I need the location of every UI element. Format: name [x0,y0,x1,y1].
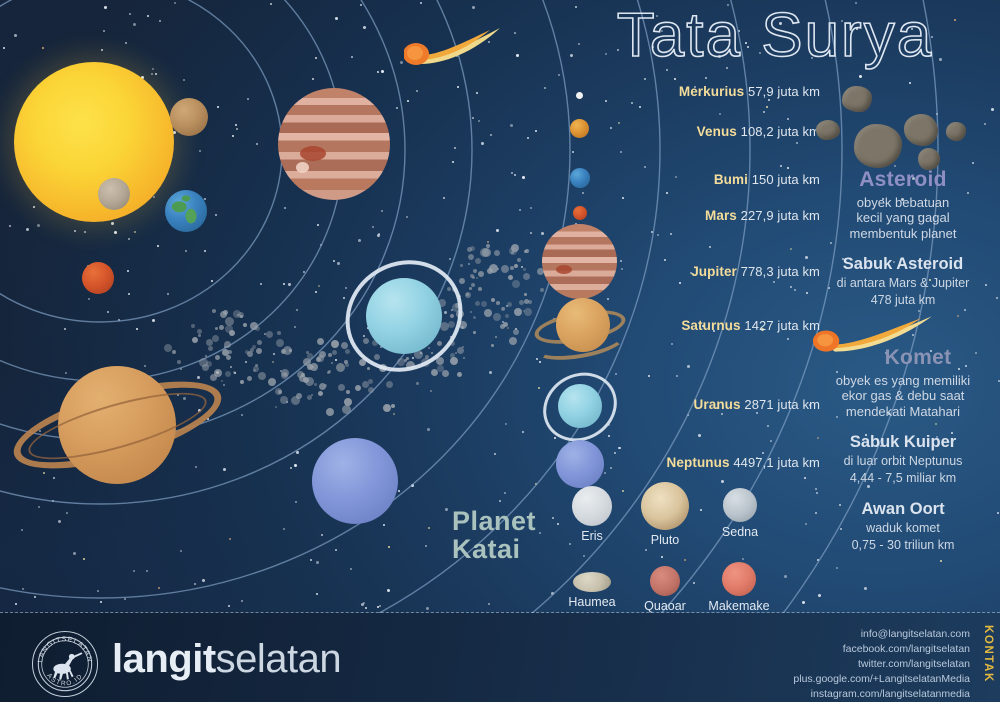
dwarf-item-sedna: Sedna [710,488,770,539]
contact-facebook[interactable]: facebook.com/langitselatan [793,642,970,657]
dwarf-name: Makemake [702,599,776,613]
mercury-icon [576,92,583,99]
comet-icon [812,314,944,354]
haumea-icon [573,572,611,592]
earth-icon [570,168,590,188]
earth-illustration [165,190,207,232]
asteroid-rock [816,120,840,140]
awan-oort-line2: 0,75 - 30 triliun km [806,538,1000,553]
planet-label-uranus: Uranus 2871 juta km [694,397,820,412]
asteroid-rock [854,124,902,168]
logo-mark-icon: LANGITSELATAN ASTRO.ID [33,632,97,696]
sabuk-kuiper-line1: di luar orbit Neptunus [806,454,1000,469]
brand-light: selatan [216,637,341,681]
brand-bold: langit [112,637,216,681]
asteroid-rock [918,148,940,170]
sedna-icon [723,488,757,522]
page-title: Tata Surya [560,2,990,74]
awan-oort-heading: Awan Oort [806,500,1000,519]
asteroid-heading: Asteroid [806,168,1000,192]
contact-google-plus[interactable]: plus.google.com/+LangitselatanMedia [793,672,970,687]
dwarf-item-makemake: Makemake [702,562,776,613]
planet-label-venus: Venus 108,2 juta km [697,124,820,139]
comet-illustration [404,20,514,68]
planet-label-bumi: Bumi 150 juta km [714,172,820,187]
neptune-icon [556,440,604,488]
contact-twitter[interactable]: twitter.com/langitselatan [793,657,970,672]
awan-oort-line1: waduk komet [806,521,1000,536]
sabuk-asteroid-line1: di antara Mars & Jupiter [806,276,1000,291]
asteroid-rock [842,86,872,112]
svg-text:Tata Surya: Tata Surya [617,2,933,70]
comet-art-wrapper [806,308,1000,352]
contact-list: info@langitselatan.com facebook.com/lang… [793,627,970,702]
jupiter-illustration [278,88,390,200]
asteroid-rock [946,122,966,141]
contact-email[interactable]: info@langitselatan.com [793,627,970,642]
dwarf-name: Eris [562,529,622,543]
dwarf-name: Quaoar [633,599,697,613]
dwarf-item-haumea: Haumea [558,563,626,609]
pluto-icon [641,482,689,530]
dwarf-label-line2: Katai [452,536,562,564]
dwarf-item-pluto: Pluto [635,482,695,547]
jupiter-icon [542,224,617,299]
uranus-icon [558,384,602,428]
contact-instagram[interactable]: instagram.com/langitselatanmedia [793,687,970,702]
dwarf-name: Pluto [635,533,695,547]
right-info-column: Asteroid obyek bebatuan kecil yang gagal… [806,92,1000,553]
eris-icon [572,486,612,526]
great-red-spot [300,146,326,161]
planet-label-merkurius: Merkurius 57,9 juta km [679,84,820,99]
planet-label-saturnus: Saturnus 1427 juta km [681,318,820,333]
planet-label-mars: Mars 227,9 juta km [705,208,820,223]
sabuk-kuiper-heading: Sabuk Kuiper [806,433,1000,452]
dwarf-name: Sedna [710,525,770,539]
mercury-illustration [170,98,208,136]
dwarf-planet-label: Planet Katai [452,508,562,563]
dwarf-name: Haumea [558,595,626,609]
komet-description: obyek es yang memiliki ekor gas & debu s… [806,373,1000,419]
svg-text:ASTRO.ID: ASTRO.ID [45,672,84,687]
asteroid-cluster-illustration [806,92,1000,166]
langitselatan-logo: LANGITSELATAN ASTRO.ID [32,631,98,697]
sun-illustration [14,62,174,222]
footer-bar: LANGITSELATAN ASTRO.ID langitsela [0,613,1000,702]
asteroid-description: obyek bebatuan kecil yang gagal membentu… [806,195,1000,241]
jupiter-red-spot [556,265,572,274]
sabuk-asteroid-heading: Sabuk Asteroid [806,255,1000,274]
jupiter-spot [296,162,309,173]
makemake-icon [722,562,756,596]
dwarf-item-quaoar: Quaoar [633,566,697,613]
uranus-illustration [366,278,442,354]
svg-text:LANGITSELATAN: LANGITSELATAN [37,636,93,663]
neptune-illustration [312,438,398,524]
mars-icon [573,206,587,220]
sabuk-kuiper-line2: 4,44 - 7,5 miliar km [806,471,1000,486]
quaoar-icon [650,566,680,596]
moon-illustration [98,178,130,210]
brand-wordmark: langitselatan [112,639,341,679]
dwarf-label-line1: Planet [452,508,562,536]
planet-label-jupiter: Jupiter 778,3 juta km [691,264,820,279]
dwarf-item-eris: Eris [562,486,622,543]
mars-illustration [82,262,114,294]
infographic-page: Merkurius 57,9 juta km Venus 108,2 juta … [0,0,1000,702]
sabuk-asteroid-line2: 478 juta km [806,293,1000,308]
kontak-label: KONTAK [978,625,994,683]
planet-label-neptunus: Neptunus 4497,1 juta km [667,455,820,470]
asteroid-rock [904,114,938,146]
venus-icon [570,119,589,138]
